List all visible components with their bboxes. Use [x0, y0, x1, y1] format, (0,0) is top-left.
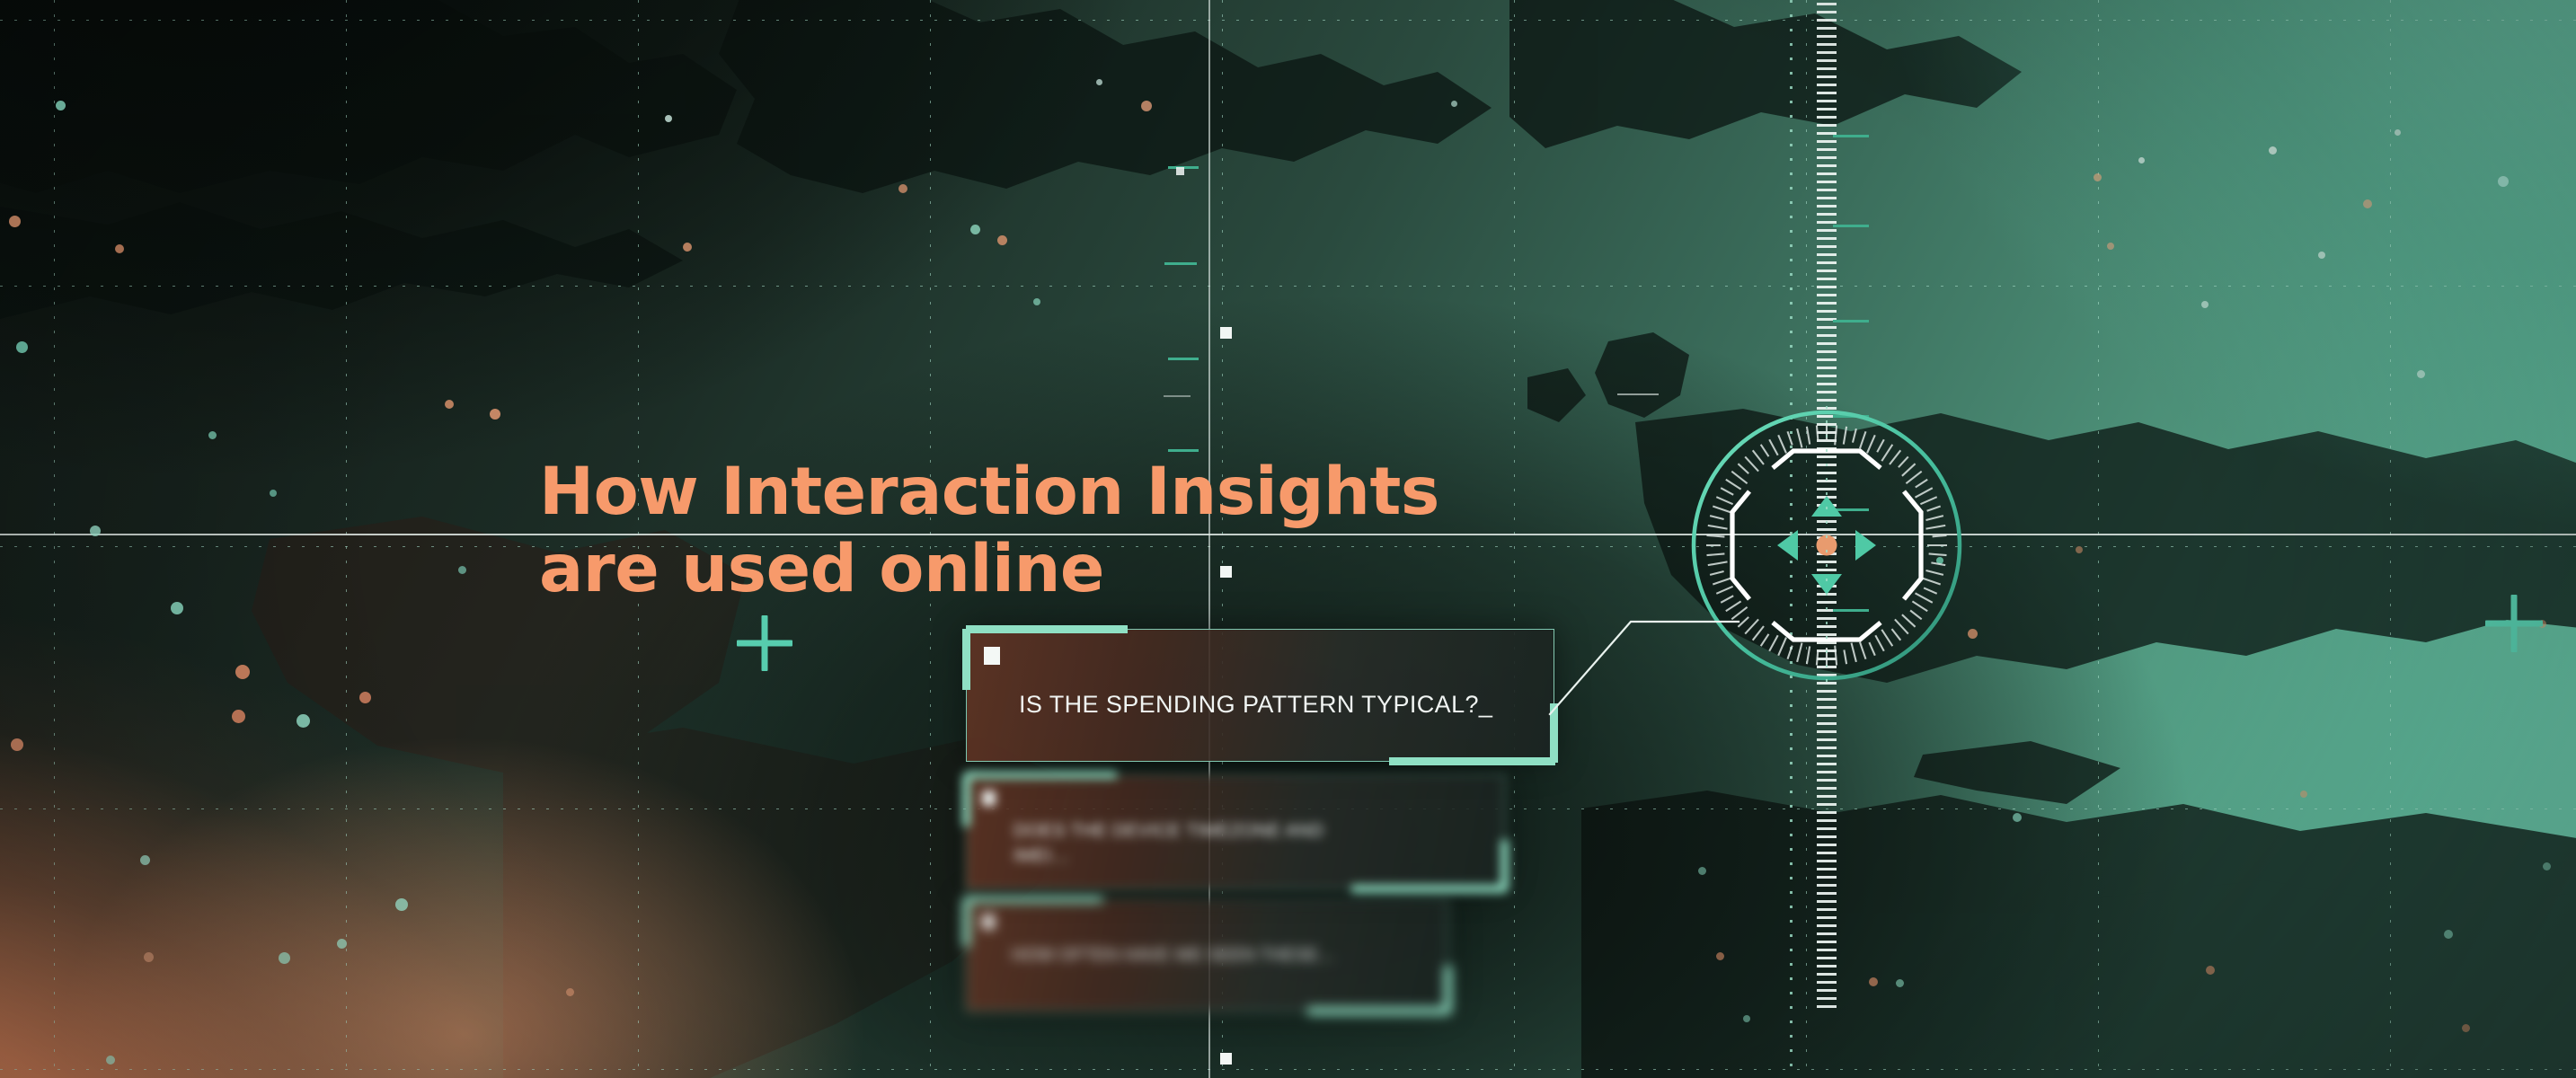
- page-title: How Interaction Insights are used online: [539, 454, 1439, 608]
- hero-banner: How Interaction Insights are used online…: [0, 0, 2576, 1078]
- radar-targeting-reticle[interactable]: [1687, 406, 1966, 685]
- question-card-tertiary[interactable]: HOW OFTEN HAVE WE SEEN THESE…: [966, 898, 1448, 1012]
- card-accent-right: [1550, 703, 1558, 763]
- card-accent-bottom: [1389, 757, 1555, 765]
- square-marker: [982, 915, 995, 929]
- card-accent-left: [962, 774, 970, 826]
- card-accent-left: [962, 898, 970, 947]
- headline-line-1: How Interaction Insights: [539, 454, 1439, 531]
- square-marker: [984, 647, 1000, 665]
- card-accent-bottom: [1307, 1007, 1449, 1015]
- card-accent-bottom: [1351, 885, 1506, 893]
- square-marker: [982, 791, 996, 806]
- card-accent-top: [966, 771, 1117, 779]
- card-accent-right: [1500, 840, 1509, 890]
- headline-line-2: are used online: [539, 531, 1439, 608]
- card-text: DOES THE DEVICE TIMEZONE AND IMEI…: [1014, 818, 1445, 869]
- card-accent-top: [966, 895, 1102, 903]
- card-text: IS THE SPENDING PATTERN TYPICAL?_: [1019, 691, 1492, 719]
- question-card-secondary[interactable]: DOES THE DEVICE TIMEZONE AND IMEI…: [966, 774, 1505, 889]
- card-accent-left: [962, 629, 970, 690]
- card-text: HOW OFTEN HAVE WE SEEN THESE…: [1012, 946, 1407, 966]
- card-accent-right: [1444, 966, 1452, 1012]
- card-accent-top: [966, 625, 1128, 633]
- question-card-active[interactable]: IS THE SPENDING PATTERN TYPICAL?_: [966, 629, 1554, 762]
